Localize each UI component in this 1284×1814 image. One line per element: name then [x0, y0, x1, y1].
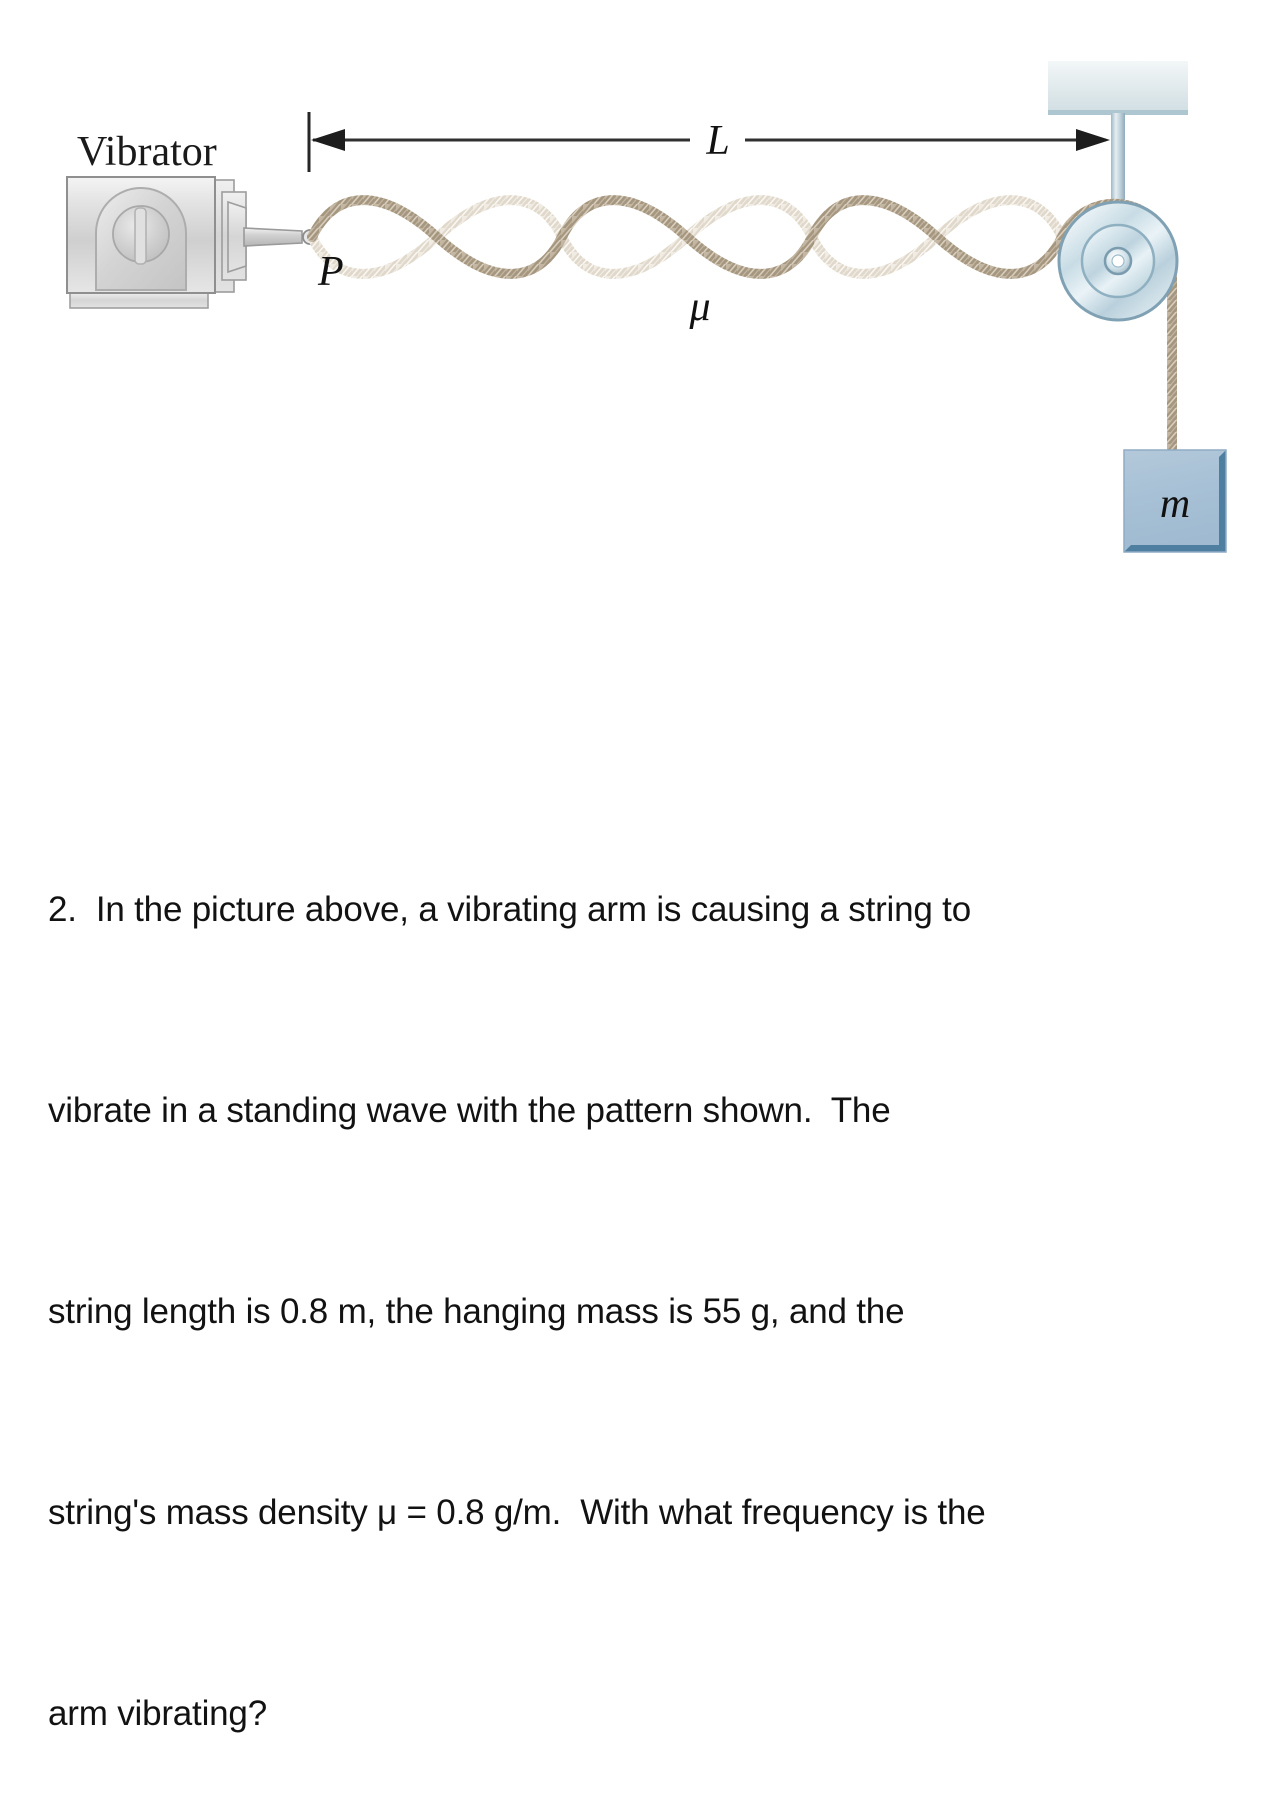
- problem-line-3: string length is 0.8 m, the hanging mass…: [48, 1278, 1248, 1345]
- problem-line-1: 2. In the picture above, a vibrating arm…: [48, 876, 1248, 943]
- vibrator-machine: [67, 177, 317, 308]
- standing-wave-main-phase: [312, 200, 1062, 274]
- length-label: L: [705, 118, 729, 164]
- hanging-mass-block: m: [1124, 450, 1226, 552]
- mass-label: m: [1160, 481, 1190, 527]
- point-p-label: P: [317, 249, 344, 295]
- problem-line-5: arm vibrating?: [48, 1680, 1248, 1747]
- linear-density-label: μ: [688, 284, 710, 330]
- vibrator-label: Vibrator: [77, 129, 217, 175]
- problem-line-4: string's mass density μ = 0.8 g/m. With …: [48, 1479, 1248, 1546]
- pulley-wheel: [1059, 202, 1177, 320]
- problem-line-2: vibrate in a standing wave with the patt…: [48, 1077, 1248, 1144]
- physics-figure: L P μ: [0, 0, 1284, 700]
- support-bracket: [1048, 61, 1188, 115]
- problem-statement: 2. In the picture above, a vibrating arm…: [48, 742, 1248, 1814]
